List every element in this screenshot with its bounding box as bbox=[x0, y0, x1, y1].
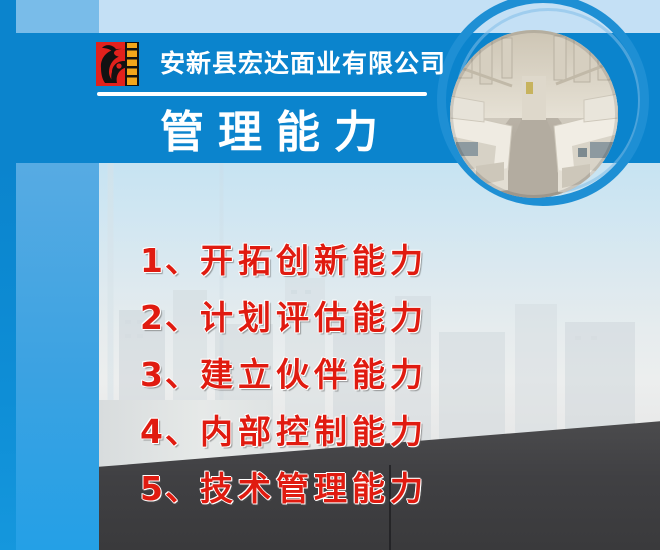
list-item-label: 技术管理能力 bbox=[200, 469, 428, 508]
list-item-number: 3、 bbox=[140, 355, 200, 394]
list-item: 4、内部控制能力 bbox=[140, 403, 560, 460]
list-item-number: 5、 bbox=[140, 469, 200, 508]
header-divider bbox=[97, 92, 427, 96]
page-title: 管理能力 bbox=[160, 104, 392, 162]
poster-canvas: 安新县宏达面业有限公司 管理能力 1、开拓创新能力 2、计划评估能力 3、建立伙… bbox=[0, 0, 660, 550]
capability-list: 1、开拓创新能力 2、计划评估能力 3、建立伙伴能力 4、内部控制能力 5、技术… bbox=[140, 232, 560, 517]
list-item-label: 内部控制能力 bbox=[200, 412, 428, 451]
list-item-label: 建立伙伴能力 bbox=[200, 355, 428, 394]
left-stripe-dark-bottom bbox=[0, 163, 16, 550]
list-item-number: 4、 bbox=[140, 412, 200, 451]
flour-mill-factory-photo bbox=[450, 30, 618, 198]
left-stripe-medium-top bbox=[16, 0, 99, 33]
list-item-number: 1、 bbox=[140, 241, 200, 280]
list-item: 5、技术管理能力 bbox=[140, 460, 560, 517]
red-ox-head-logo bbox=[96, 42, 154, 86]
company-name: 安新县宏达面业有限公司 bbox=[160, 46, 428, 82]
list-item: 2、计划评估能力 bbox=[140, 289, 560, 346]
list-item-label: 开拓创新能力 bbox=[200, 241, 428, 280]
list-item-number: 2、 bbox=[140, 298, 200, 337]
list-item: 1、开拓创新能力 bbox=[140, 232, 560, 289]
list-item-label: 计划评估能力 bbox=[200, 298, 428, 337]
list-item: 3、建立伙伴能力 bbox=[140, 346, 560, 403]
left-stripe-medium-bottom bbox=[16, 163, 99, 550]
